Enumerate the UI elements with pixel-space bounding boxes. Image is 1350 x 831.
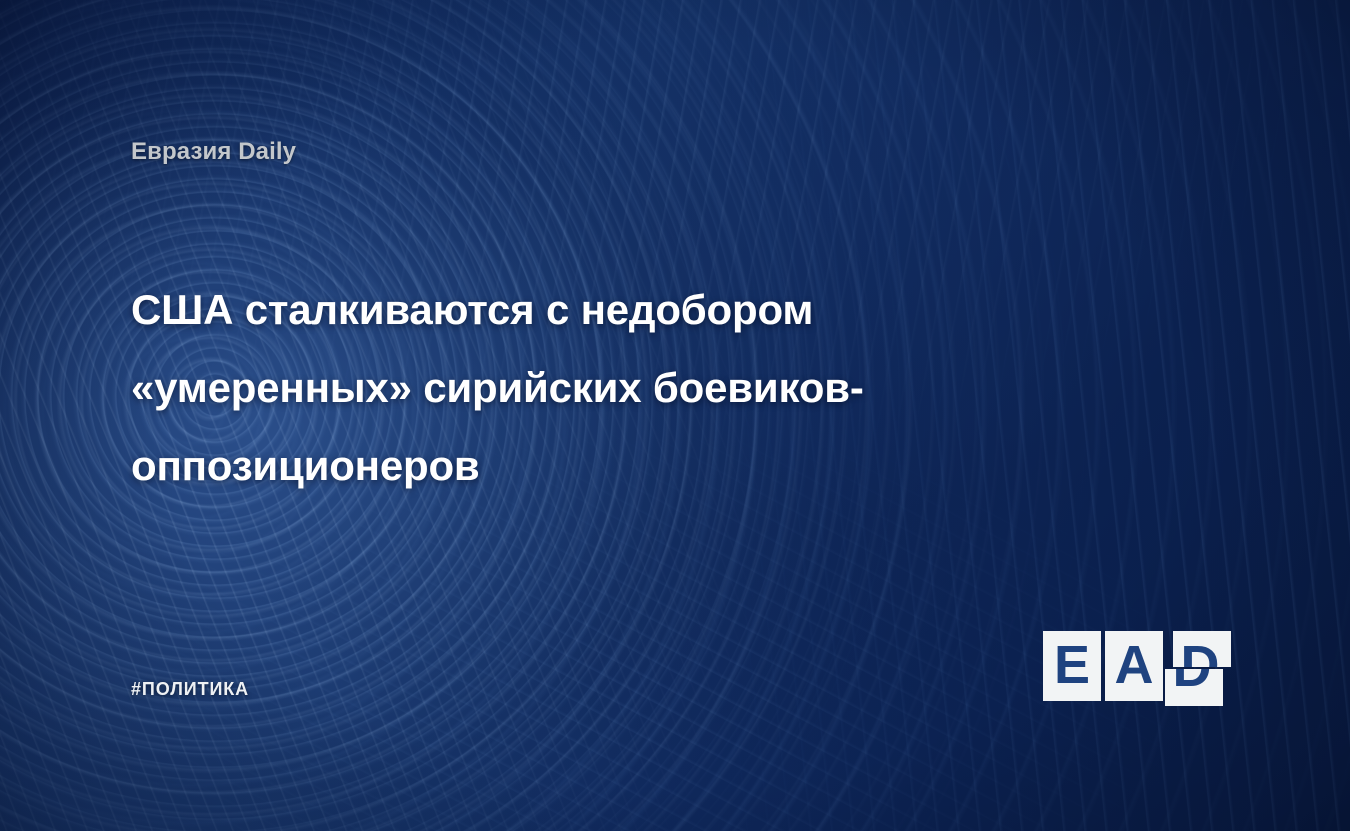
logo-letter-e: E: [1054, 638, 1090, 692]
logo-tile-d-bottom-half: D: [1165, 669, 1223, 706]
headline: США сталкиваются с недобором «умеренных»…: [131, 271, 1036, 505]
news-cover-card: Евразия Daily США сталкиваются с недобор…: [0, 0, 1350, 831]
card-content: Евразия Daily США сталкиваются с недобор…: [0, 0, 1350, 831]
logo-tile-d-top-half: D: [1173, 631, 1231, 667]
logo-letter-d-top: D: [1181, 638, 1220, 667]
site-name: Евразия Daily: [131, 138, 296, 167]
category-hashtag: #ПОЛИТИКА: [131, 679, 249, 700]
logo-letter-d-bottom: D: [1173, 669, 1212, 695]
eadaily-logo: E A D D: [1043, 631, 1228, 709]
logo-letter-a: A: [1115, 638, 1154, 692]
logo-tile-e: E: [1043, 631, 1101, 701]
logo-tile-a: A: [1105, 631, 1163, 701]
